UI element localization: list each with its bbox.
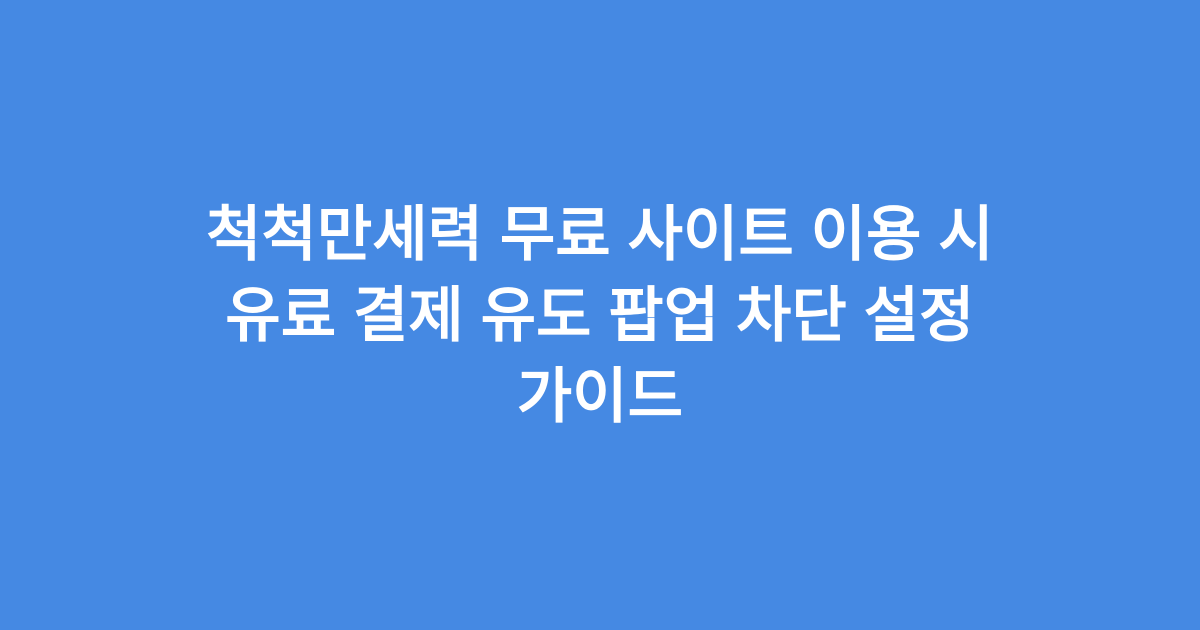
share-card-content: 척척만세력 무료 사이트 이용 시 유료 결제 유도 팝업 차단 설정 가이드 [100,194,1100,437]
share-card: 척척만세력 무료 사이트 이용 시 유료 결제 유도 팝업 차단 설정 가이드 [0,0,1200,630]
page-title: 척척만세력 무료 사이트 이용 시 유료 결제 유도 팝업 차단 설정 가이드 [206,194,994,437]
